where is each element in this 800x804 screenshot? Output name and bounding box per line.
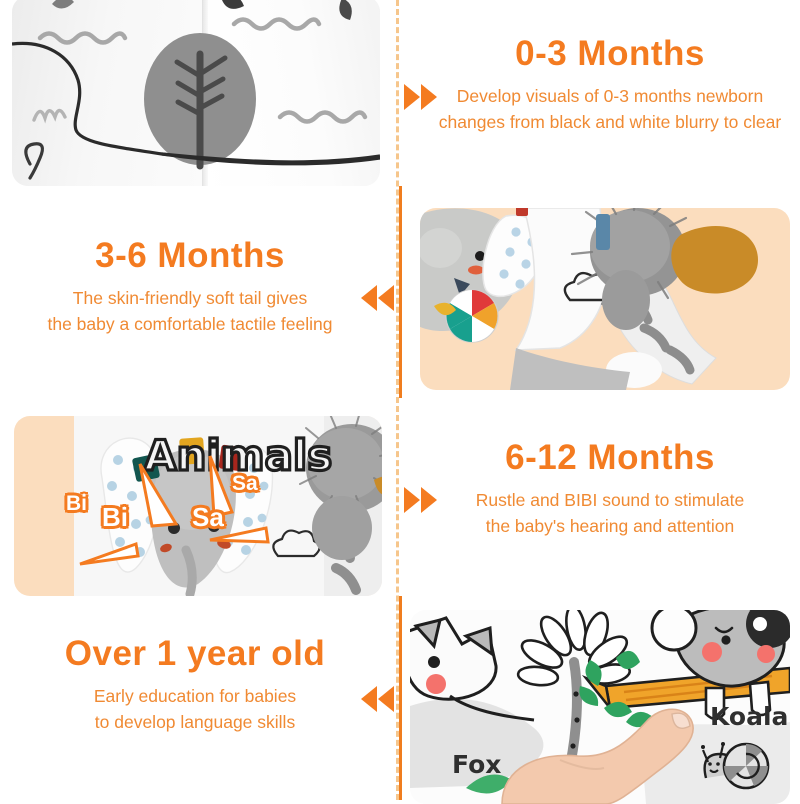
image-panel-6-12-months: Animals Bi Bi Sa Sa — [14, 416, 382, 596]
section-body-line-2: to develop language skills — [10, 709, 380, 735]
section-body-line-2: the baby's hearing and attention — [430, 513, 790, 539]
book-art-svg — [12, 0, 380, 186]
double-arrow-right-icon-1 — [404, 84, 437, 110]
double-arrow-right-icon-2 — [404, 487, 437, 513]
animal-book-page-photo: Fox Koala — [410, 610, 790, 804]
sound-label-bi-2: Bi — [102, 502, 128, 533]
image-panel-3-6-months — [420, 208, 790, 390]
section-body-line-1: The skin-friendly soft tail gives — [10, 285, 370, 311]
section-title-3-6-months: 3-6 Months — [10, 238, 370, 275]
section-title-over-1-year-old: Over 1 year old — [10, 636, 380, 673]
page-word-koala: Koala — [710, 702, 788, 731]
section-title-0-3-months: 0-3 Months — [430, 36, 790, 73]
double-arrow-left-icon-2 — [361, 686, 394, 712]
sound-label-bi-1: Bi — [66, 492, 87, 516]
section-body-line-2: the baby a comfortable tactile feeling — [10, 311, 370, 337]
double-arrow-left-icon-1 — [361, 285, 394, 311]
image-panel-over-1-year-old: Fox Koala — [410, 610, 790, 804]
black-and-white-book-illustration — [12, 0, 380, 186]
vertical-solid-divider-top — [399, 186, 402, 398]
text-block-6-12-months: 6-12 Months Rustle and BIBI sound to sti… — [430, 440, 790, 539]
section-title-6-12-months: 6-12 Months — [430, 440, 790, 477]
sound-label-sa-2: Sa — [192, 502, 224, 533]
text-block-over-1-year-old: Over 1 year old Early education for babi… — [10, 636, 380, 735]
image-panel-0-3-months — [12, 0, 380, 186]
section-body-line-1: Early education for babies — [10, 683, 380, 709]
vertical-solid-divider-bottom — [399, 596, 402, 800]
plush-toy-photo — [420, 208, 790, 390]
plush-toy-svg — [420, 208, 790, 390]
section-body-line-1: Rustle and BIBI sound to stimulate — [430, 487, 790, 513]
infographic-stage: 0-3 Months Develop visuals of 0-3 months… — [0, 0, 800, 800]
text-block-0-3-months: 0-3 Months Develop visuals of 0-3 months… — [430, 36, 790, 135]
page-word-fox: Fox — [452, 750, 501, 779]
text-block-3-6-months: 3-6 Months The skin-friendly soft tail g… — [10, 238, 370, 337]
sound-label-sa-1: Sa — [232, 472, 258, 496]
elephant-plush-photo: Animals Bi Bi Sa Sa — [14, 416, 382, 596]
section-body-line-1: Develop visuals of 0-3 months newborn — [430, 83, 790, 109]
section-body-line-2: changes from black and white blurry to c… — [430, 109, 790, 135]
